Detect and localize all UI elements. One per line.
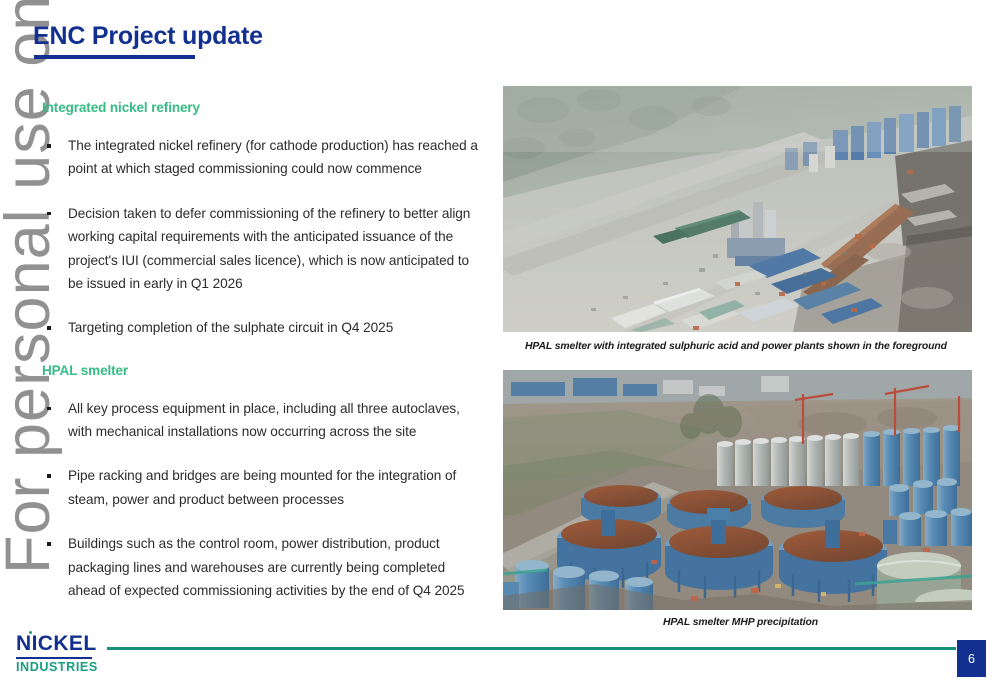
section-heading-refinery: Integrated nickel refinery (42, 100, 482, 115)
logo-text-nickel: NICKEL (16, 632, 97, 655)
list-item: All key process equipment in place, incl… (42, 397, 482, 444)
page-number: 6 (957, 640, 986, 677)
bullet-list-hpal: All key process equipment in place, incl… (42, 397, 482, 603)
content-column: Integrated nickel refinery The integrate… (42, 100, 482, 602)
list-item: The integrated nickel refinery (for cath… (42, 134, 482, 181)
list-item: Pipe racking and bridges are being mount… (42, 464, 482, 511)
photo-caption-bottom: HPAL smelter MHP precipitation (663, 617, 818, 628)
page-title: ENC Project update (33, 22, 263, 51)
company-logo: NICKEL INDUSTRIES (16, 633, 98, 673)
section-heading-hpal: HPAL smelter (42, 363, 482, 378)
footer-divider (107, 647, 956, 650)
mhp-precipitation-illustration (503, 370, 972, 610)
logo-text-industries: INDUSTRIES (16, 661, 98, 674)
title-underline (34, 55, 195, 59)
logo-underline (16, 657, 92, 660)
list-item: Targeting completion of the sulphate cir… (42, 316, 482, 339)
photo-hpal-smelter-aerial (503, 86, 972, 332)
logo-dot-accent (29, 631, 33, 635)
photo-hpal-mhp-precipitation (503, 370, 972, 610)
list-item: Buildings such as the control room, powe… (42, 532, 482, 602)
photo-caption-top: HPAL smelter with integrated sulphuric a… (525, 341, 947, 352)
aerial-site-illustration (503, 86, 972, 332)
bullet-list-refinery: The integrated nickel refinery (for cath… (42, 134, 482, 340)
slide: For personal use only ENC Project update… (0, 0, 1000, 685)
list-item: Decision taken to defer commissioning of… (42, 202, 482, 296)
logo-wordmark-nickel: NICKEL (16, 633, 98, 654)
